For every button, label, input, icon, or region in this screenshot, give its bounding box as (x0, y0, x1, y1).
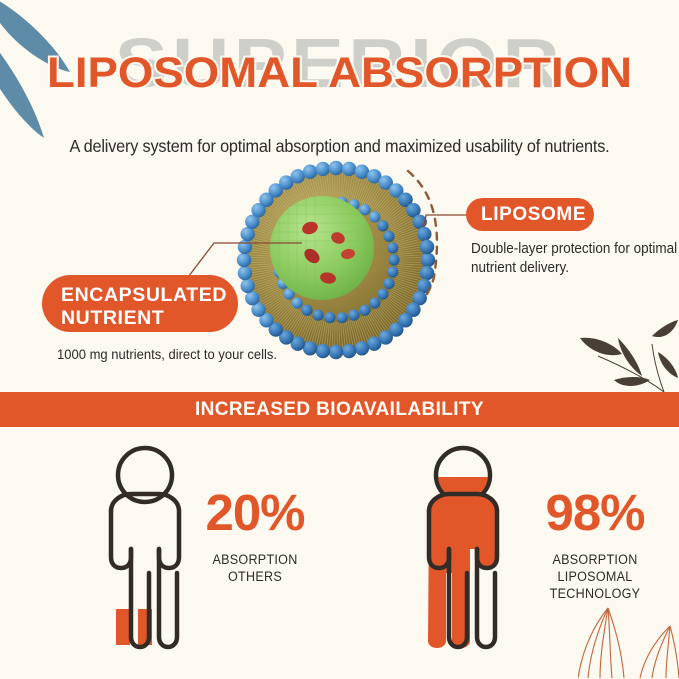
comparison-section: 20% ABSORPTION OTHERS (0, 427, 679, 679)
encapsulated-nutrient-label-pill[interactable]: ENCAPSULATED NUTRIENT (42, 275, 238, 332)
dark-botanical-sprig-icon (566, 318, 679, 396)
nutrient-description: 1000 mg nutrients, direct to your cells. (57, 345, 364, 364)
comparison-item-others: 20% ABSORPTION OTHERS (0, 427, 340, 679)
percent-others: 20% (175, 485, 335, 541)
page-subtitle: A delivery system for optimal absorption… (24, 136, 655, 157)
stat-liposomal: 98% ABSORPTION LIPOSOMAL TECHNOLOGY (505, 485, 679, 602)
liposome-label-pill[interactable]: LIPOSOME (466, 198, 594, 231)
caption-liposomal: ABSORPTION LIPOSOMAL TECHNOLOGY (511, 551, 678, 602)
percent-liposomal: 98% (505, 485, 679, 541)
infographic-canvas: SUPERIOR LIPOSOMAL ABSORPTION A delivery… (0, 0, 679, 679)
caption-others-line1: ABSORPTION (181, 551, 330, 568)
liposome-description: Double-layer protection for optimal nutr… (471, 240, 679, 278)
page-title: LIPOSOMAL ABSORPTION (0, 48, 679, 98)
caption-others: ABSORPTION OTHERS (181, 551, 330, 585)
stat-others: 20% ABSORPTION OTHERS (175, 485, 335, 585)
comparison-item-liposomal: 98% ABSORPTION LIPOSOMAL TECHNOLOGY (340, 427, 679, 679)
caption-liposomal-line2: LIPOSOMAL TECHNOLOGY (511, 568, 678, 602)
liposome-leader-line (390, 165, 480, 300)
bioavailability-banner: INCREASED BIOAVAILABILITY (0, 392, 679, 427)
caption-liposomal-line1: ABSORPTION (511, 551, 678, 568)
caption-others-line2: OTHERS (181, 568, 330, 585)
